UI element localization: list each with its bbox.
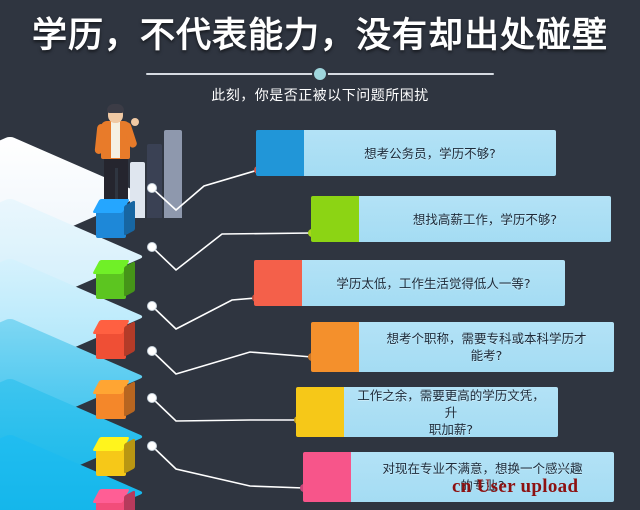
row-text: 学历太低，工作生活觉得低人一等? bbox=[302, 260, 565, 306]
row-line: 想找高薪工作，学历不够? bbox=[413, 211, 557, 228]
row-color-tile bbox=[303, 452, 351, 502]
cube-side-face bbox=[124, 321, 135, 357]
cube-green bbox=[96, 269, 126, 299]
row-text: 工作之余，需要更高的学历文凭，升 职加薪? bbox=[344, 387, 558, 437]
person-hand bbox=[131, 118, 139, 126]
cube-yellow bbox=[96, 446, 126, 476]
row-text: 想考公务员，学历不够? bbox=[304, 130, 556, 176]
bar-dark bbox=[147, 144, 162, 218]
bar-gray bbox=[164, 130, 182, 218]
page-title: 学历，不代表能力，没有却出处碰壁 bbox=[0, 0, 640, 58]
cube-side-face bbox=[124, 438, 135, 474]
row-text: 想考个职称，需要专科或本科学历才 能考? bbox=[359, 322, 614, 372]
poster-root: 学历，不代表能力，没有却出处碰壁 此刻，你是否正被以下问题所困扰 bbox=[0, 0, 640, 510]
row-line: 学历太低，工作生活觉得低人一等? bbox=[336, 275, 530, 292]
row-color-tile bbox=[254, 260, 302, 306]
row-color-tile bbox=[296, 387, 344, 437]
problem-row-4[interactable]: 想考个职称，需要专科或本科学历才 能考? bbox=[311, 322, 614, 372]
problem-row-5[interactable]: 工作之余，需要更高的学历文凭，升 职加薪? bbox=[296, 387, 558, 437]
cube-orange bbox=[96, 389, 126, 419]
row-line: 工作之余，需要更高的学历文凭，升 bbox=[354, 387, 548, 421]
row-line: 职加薪? bbox=[354, 421, 548, 438]
cube-pink bbox=[96, 498, 126, 510]
row-text: 想找高薪工作，学历不够? bbox=[359, 196, 611, 242]
cube-blue bbox=[96, 208, 126, 238]
cube-side-face bbox=[124, 381, 135, 417]
row-line: 能考? bbox=[386, 347, 586, 364]
person-shirt bbox=[111, 122, 120, 158]
row-color-tile bbox=[311, 322, 359, 372]
divider bbox=[146, 66, 494, 82]
illustration bbox=[10, 112, 240, 502]
row-color-tile bbox=[311, 196, 359, 242]
row-line: 想考个职称，需要专科或本科学历才 bbox=[386, 330, 586, 347]
page-subtitle: 此刻，你是否正被以下问题所困扰 bbox=[0, 86, 640, 106]
person-hair bbox=[107, 104, 124, 113]
watermark: cn User upload bbox=[452, 476, 578, 498]
problem-row-2[interactable]: 想找高薪工作，学历不够? bbox=[311, 196, 611, 242]
header: 学历，不代表能力，没有却出处碰壁 此刻，你是否正被以下问题所困扰 bbox=[0, 0, 640, 106]
row-line: 对现在专业不满意，想换一个感兴趣 bbox=[382, 460, 582, 477]
divider-dot-icon bbox=[314, 68, 326, 80]
cube-side-face bbox=[124, 261, 135, 297]
cube-side-face bbox=[124, 200, 135, 236]
row-line: 想考公务员，学历不够? bbox=[364, 145, 496, 162]
cube-red bbox=[96, 329, 126, 359]
problem-row-1[interactable]: 想考公务员，学历不够? bbox=[256, 130, 556, 176]
problem-row-3[interactable]: 学历太低，工作生活觉得低人一等? bbox=[254, 260, 565, 306]
row-color-tile bbox=[256, 130, 304, 176]
